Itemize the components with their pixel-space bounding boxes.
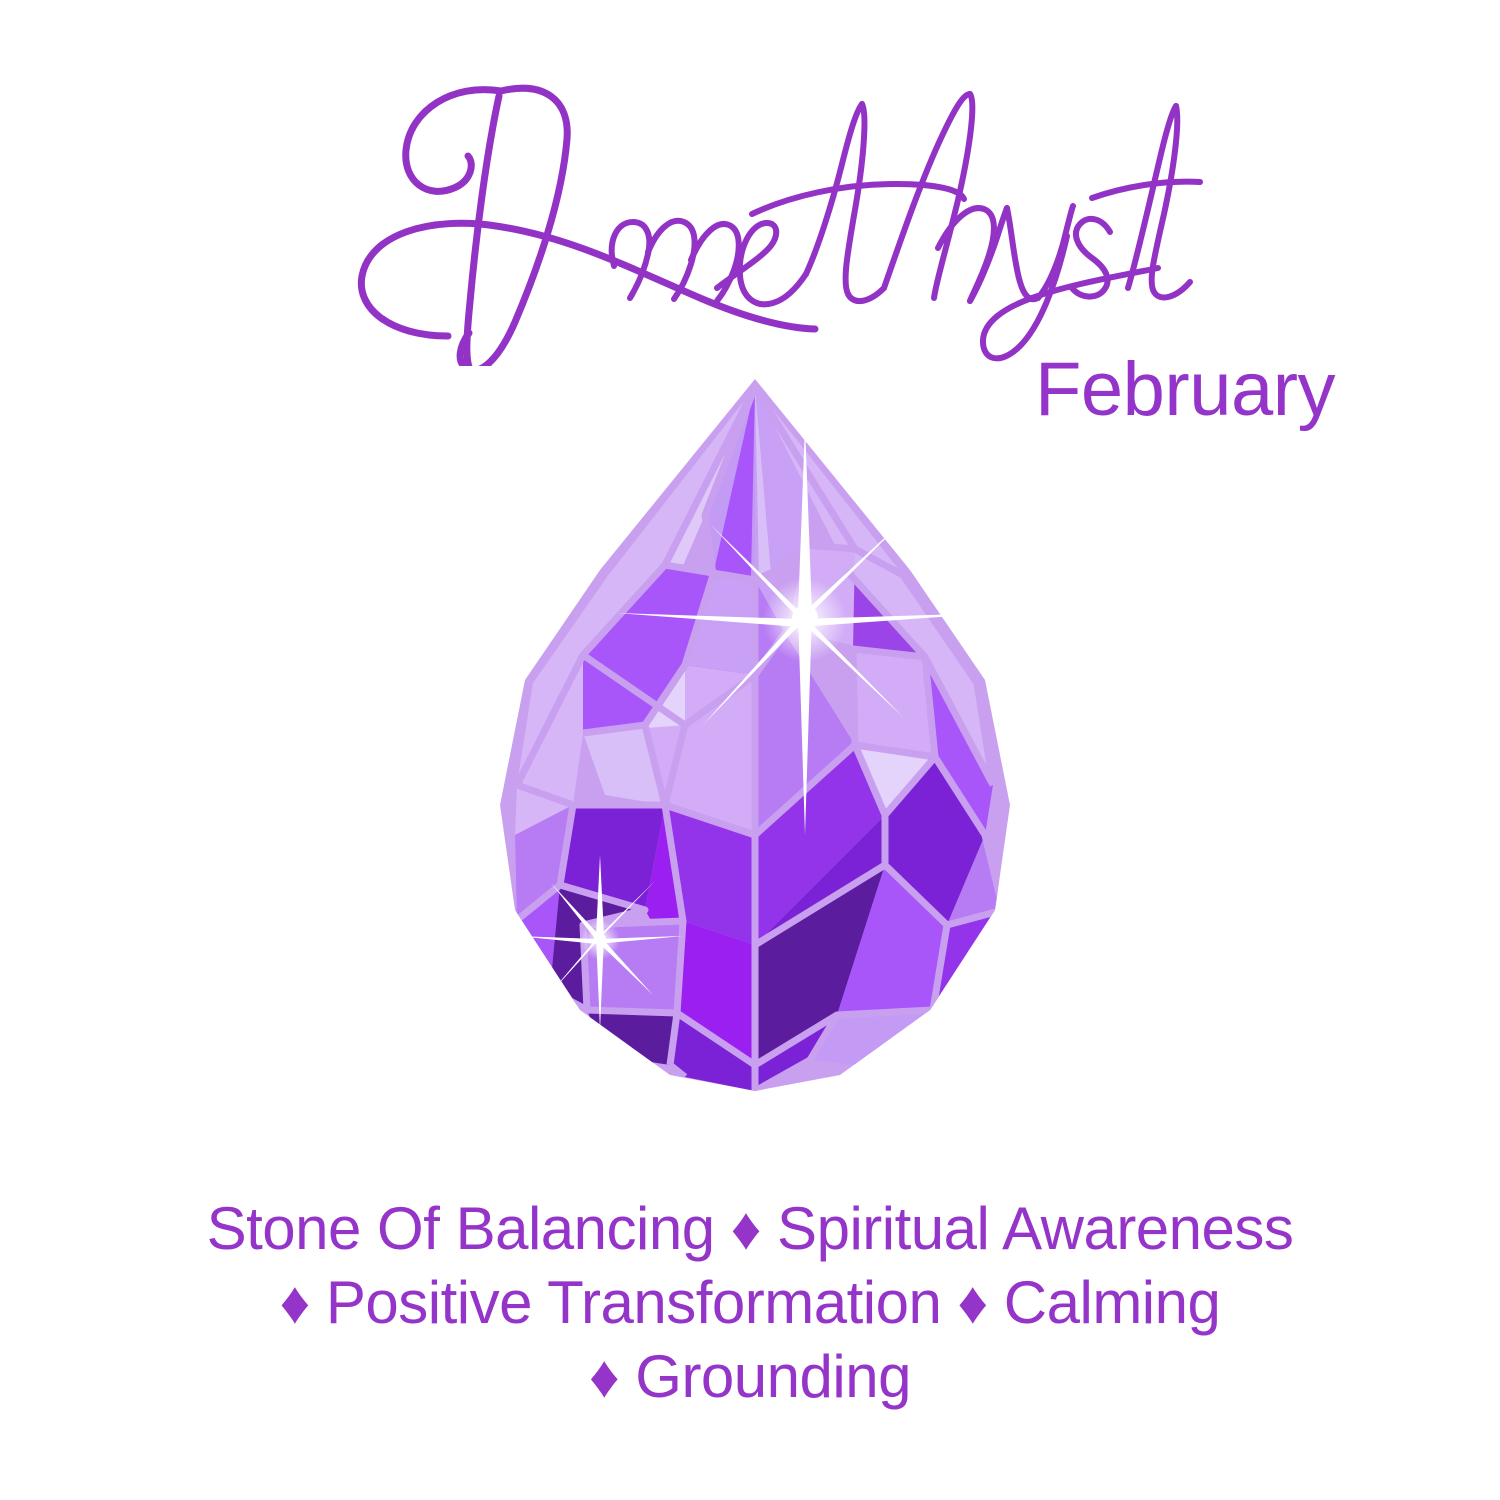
amethyst-gem-svg bbox=[455, 365, 1055, 1105]
amethyst-birthstone-poster: Amethyst bbox=[0, 0, 1500, 1500]
month-label: February bbox=[1020, 352, 1350, 428]
keyword-line-2: ♦ Positive Transformation ♦ Calming bbox=[0, 1266, 1500, 1340]
keyword-list: Stone Of Balancing ♦ Spiritual Awareness… bbox=[0, 1192, 1500, 1414]
keyword-line-3: ♦ Grounding bbox=[0, 1340, 1500, 1414]
keyword-line-1: Stone Of Balancing ♦ Spiritual Awareness bbox=[0, 1192, 1500, 1266]
page-title: Amethyst bbox=[0, 36, 1500, 366]
title-script-amethyst: Amethyst bbox=[270, 36, 1230, 366]
gemstone-illustration bbox=[455, 365, 1055, 1105]
